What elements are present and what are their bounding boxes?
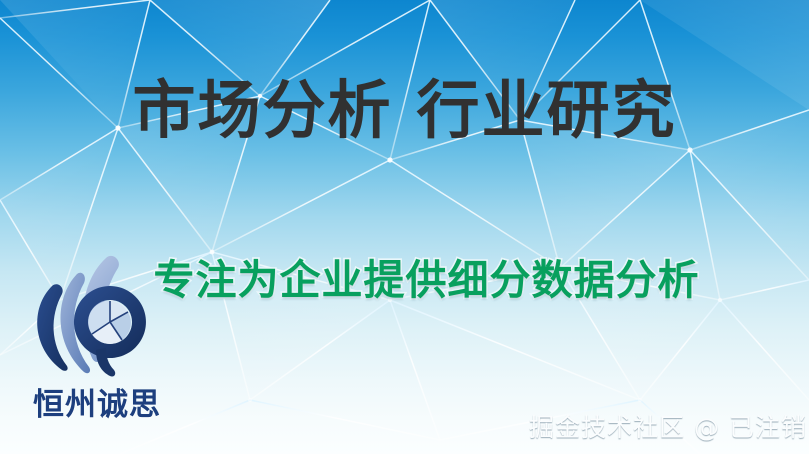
main-title-container: 市场分析 行业研究 xyxy=(0,78,809,144)
watermark-text: 掘金技术社区 @ 已注销 xyxy=(529,408,807,444)
logo-mark-icon xyxy=(22,246,164,386)
logo-company-name: 恒州诚思 xyxy=(14,379,180,424)
subtitle: 专注为企业提供细分数据分析 xyxy=(154,246,700,306)
main-title: 市场分析 行业研究 xyxy=(133,78,677,144)
company-logo: 恒州诚思 xyxy=(14,246,180,428)
promo-banner: 市场分析 行业研究 专注为企业提供细分数据分析 xyxy=(0,0,809,454)
